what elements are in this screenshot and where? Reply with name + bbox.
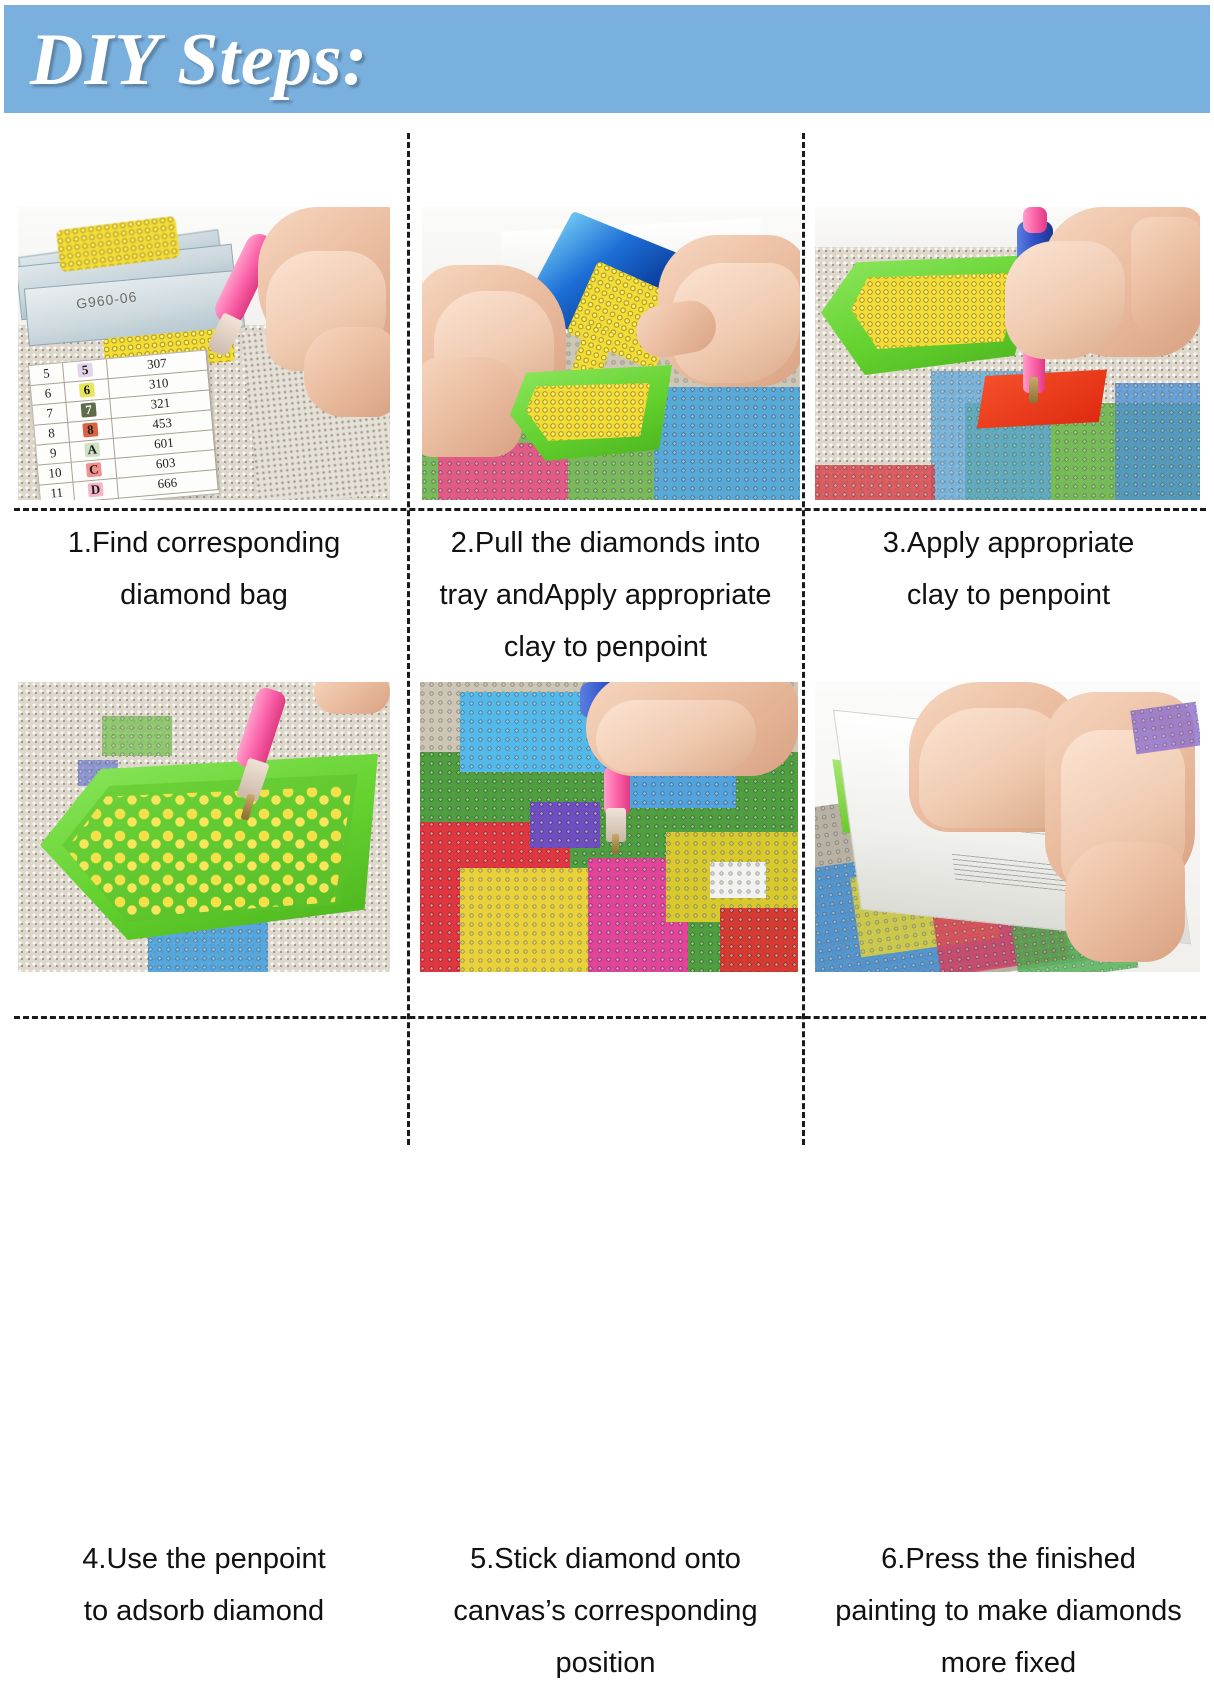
steps-row-bottom: 4.Use the penpoint to adsorb diamond bbox=[0, 641, 1214, 1147]
step-photo-4 bbox=[18, 682, 390, 972]
divider-horizontal-2 bbox=[14, 1016, 1206, 1019]
caption-line: 1.Find corresponding bbox=[0, 517, 408, 569]
step-cell-2: 2.Pull the diamonds into tray andApply a… bbox=[408, 133, 803, 641]
caption-line: clay to penpoint bbox=[803, 569, 1214, 621]
caption-line: to adsorb diamond bbox=[0, 1585, 408, 1637]
caption-line: 6.Press the finished bbox=[803, 1533, 1214, 1585]
divider-vertical-1 bbox=[407, 133, 410, 1145]
step-cell-4: 4.Use the penpoint to adsorb diamond bbox=[0, 641, 408, 1147]
step-cell-6: 6.Press the finished painting to make di… bbox=[803, 641, 1214, 1147]
step-caption-3: 3.Apply appropriate clay to penpoint bbox=[803, 517, 1214, 621]
caption-line: more fixed bbox=[803, 1637, 1214, 1689]
caption-line: diamond bag bbox=[0, 569, 408, 621]
step-caption-5: 5.Stick diamond onto canvas’s correspond… bbox=[408, 1533, 803, 1689]
step-cell-3: 3.Apply appropriate clay to penpoint bbox=[803, 133, 1214, 641]
caption-line: canvas’s corresponding bbox=[408, 1585, 803, 1637]
chart-cell-symbol: D bbox=[73, 479, 119, 500]
caption-line: 4.Use the penpoint bbox=[0, 1533, 408, 1585]
step-caption-6: 6.Press the finished painting to make di… bbox=[803, 1533, 1214, 1689]
symbol-chart: 5 5 307 6 6 310 7 7 321 8 8 453 9 A bbox=[28, 349, 220, 500]
step-cell-5: 5.Stick diamond onto canvas’s correspond… bbox=[408, 641, 803, 1147]
page-title: DIY Steps: bbox=[30, 19, 368, 101]
caption-line: 2.Pull the diamonds into bbox=[408, 517, 803, 569]
step-photo-6 bbox=[815, 682, 1200, 972]
header-banner: DIY Steps: bbox=[4, 5, 1210, 113]
divider-vertical-2 bbox=[802, 133, 805, 1145]
step-photo-2 bbox=[422, 207, 800, 500]
step-photo-1: G960-06 5 5 307 bbox=[18, 207, 390, 500]
caption-line: painting to make diamonds bbox=[803, 1585, 1214, 1637]
step-caption-1: 1.Find corresponding diamond bag bbox=[0, 517, 408, 621]
caption-line: tray andApply appropriate bbox=[408, 569, 803, 621]
caption-line: 5.Stick diamond onto bbox=[408, 1533, 803, 1585]
steps-grid: G960-06 5 5 307 bbox=[0, 133, 1214, 1147]
chart-cell-row: 11 bbox=[40, 483, 76, 500]
step-photo-3 bbox=[815, 207, 1200, 500]
steps-row-top: G960-06 5 5 307 bbox=[0, 133, 1214, 641]
step-caption-4: 4.Use the penpoint to adsorb diamond bbox=[0, 1533, 408, 1637]
divider-horizontal-1 bbox=[14, 508, 1206, 511]
step-photo-5 bbox=[420, 682, 798, 972]
step-cell-1: G960-06 5 5 307 bbox=[0, 133, 408, 641]
caption-line: position bbox=[408, 1637, 803, 1689]
caption-line: 3.Apply appropriate bbox=[803, 517, 1214, 569]
